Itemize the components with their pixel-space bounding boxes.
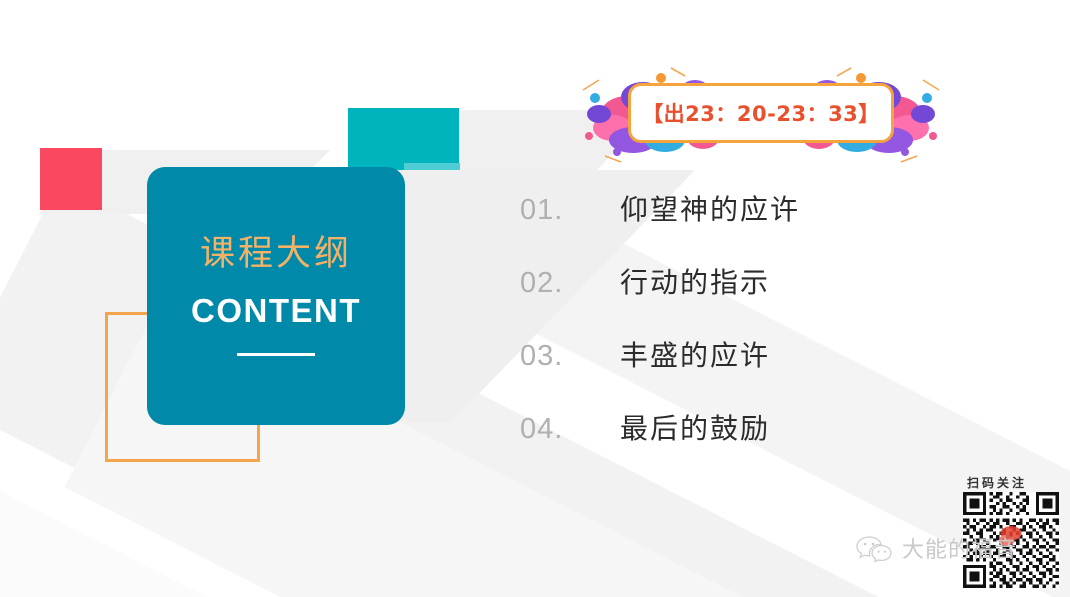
outline-item-number: 02. [520, 267, 620, 300]
slide-canvas: 课程大纲 CONTENT [0, 0, 1070, 597]
outline-item-label: 最后的鼓励 [620, 407, 770, 447]
content-card-title-cn: 课程大纲 [200, 237, 352, 272]
outline-item-number: 03. [520, 340, 620, 373]
scripture-ribbon-box: 【出23：20-23：33】 [628, 83, 894, 143]
outline-item-label: 丰盛的应许 [620, 334, 770, 374]
content-card-divider [237, 353, 315, 356]
outline-item-2: 02. 行动的指示 [520, 261, 950, 334]
outline-item-number: 04. [520, 413, 620, 446]
scan-prompt-label: 扫码关注 [967, 474, 1027, 491]
outline-list: 01. 仰望神的应许 02. 行动的指示 03. 丰盛的应许 04. 最后的鼓励 [520, 188, 950, 480]
wechat-account-name: 大能的福音 [902, 532, 1017, 564]
outline-item-number: 01. [520, 194, 620, 227]
pink-square-decor [40, 148, 102, 210]
content-card-title-en: CONTENT [191, 294, 361, 327]
outline-item-1: 01. 仰望神的应许 [520, 188, 950, 261]
outline-item-label: 仰望神的应许 [620, 188, 800, 228]
wechat-account-row: 大能的福音 [855, 532, 1017, 564]
watermark-footer: 扫码关注 [855, 470, 1070, 595]
outline-item-3: 03. 丰盛的应许 [520, 334, 950, 407]
content-card: 课程大纲 CONTENT [147, 167, 405, 425]
scripture-reference-text: 【出23：20-23：33】 [642, 98, 880, 128]
scripture-ribbon: 【出23：20-23：33】 [565, 62, 957, 164]
wechat-icon [855, 534, 895, 562]
outline-item-label: 行动的指示 [620, 261, 770, 301]
